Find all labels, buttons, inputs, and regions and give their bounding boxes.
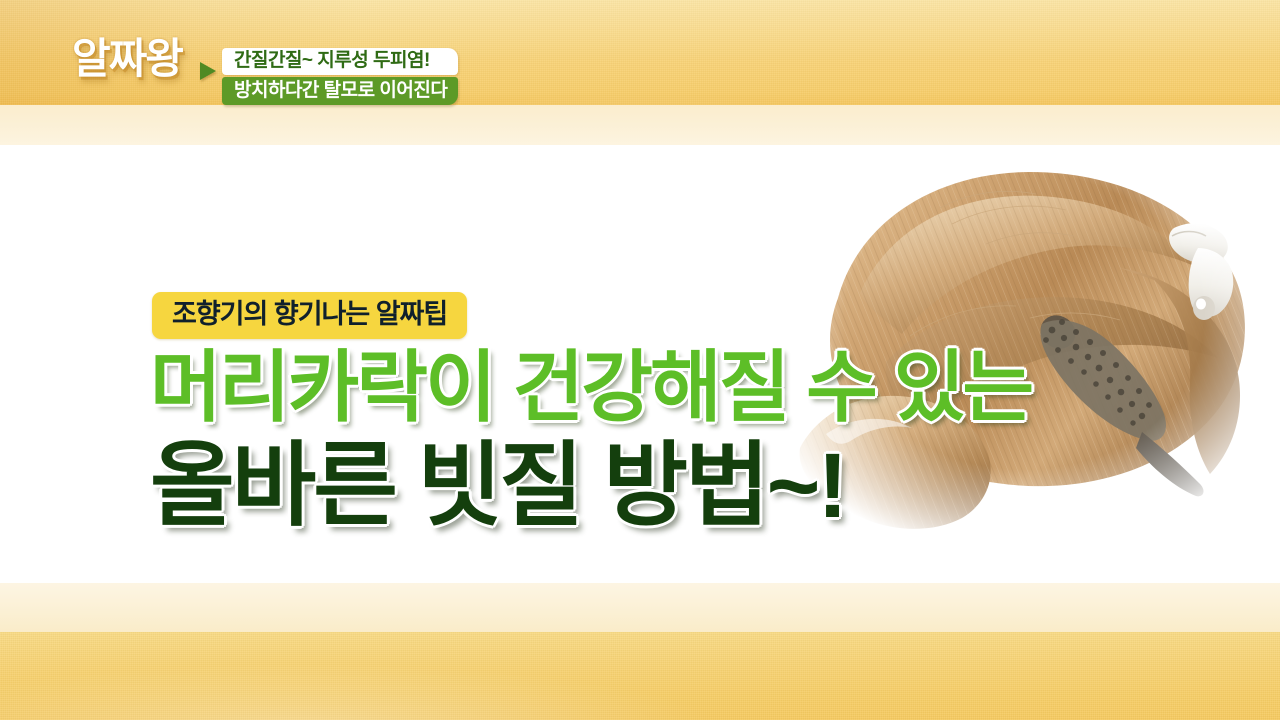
header-topic-caption: 간질간질~ 지루성 두피염! 방치하다간 탈모로 이어진다: [222, 48, 458, 105]
header-band: [0, 0, 1280, 105]
hair-photo: [790, 148, 1258, 533]
broadcast-caption-frame: 알짜왕 간질간질~ 지루성 두피염! 방치하다간 탈모로 이어진다 조향기의 향…: [0, 0, 1280, 720]
topic-line-1: 간질간질~ 지루성 두피염!: [222, 48, 458, 75]
headline-line-1: 머리카락이 건강해질 수 있는: [150, 348, 1031, 426]
cream-band-bottom: [0, 583, 1280, 632]
hair-photo-illustration: [790, 148, 1258, 533]
program-logo: 알짜왕: [72, 38, 182, 80]
headline-line-2: 올바른 빗질 방법~!: [150, 440, 845, 532]
tip-badge: 조향기의 향기나는 알짜팁: [152, 292, 467, 339]
gold-band-bottom: [0, 632, 1280, 720]
cream-band-top: [0, 105, 1280, 145]
triangle-right-icon: [200, 62, 216, 80]
topic-line-2: 방치하다간 탈모로 이어진다: [222, 77, 458, 105]
